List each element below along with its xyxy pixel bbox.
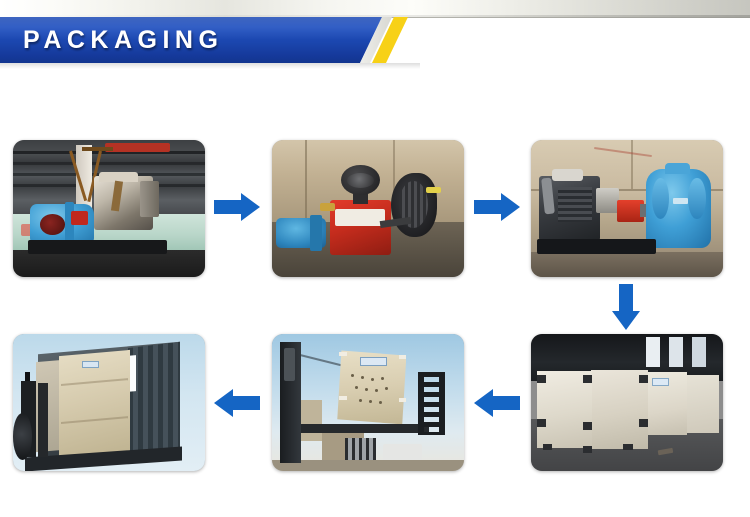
photo-step-5 [272,334,464,471]
scene-forklift-lifting-crate [272,334,464,471]
photo-step-3 [531,140,723,277]
arrow-1-right [214,192,260,222]
page-title: PACKAGING [23,17,223,63]
scene-workshop-crane-lift [13,140,205,277]
scene-complete-genset-unit [531,140,723,277]
arrow-3-down [611,284,641,330]
photo-step-2 [272,140,464,277]
page-header: PACKAGING [0,0,750,80]
photo-step-1 [13,140,205,277]
banner-drop-shadow [0,63,420,69]
arrow-5-left [474,388,520,418]
scene-container-loading [13,334,205,471]
photo-step-4 [531,334,723,471]
photo-step-6 [13,334,205,471]
arrow-4-left [214,388,260,418]
arrow-2-right [474,192,520,222]
scene-warehouse-crates [531,334,723,471]
scene-engine-pump-assembly [272,140,464,277]
metallic-top-strip [0,0,750,18]
